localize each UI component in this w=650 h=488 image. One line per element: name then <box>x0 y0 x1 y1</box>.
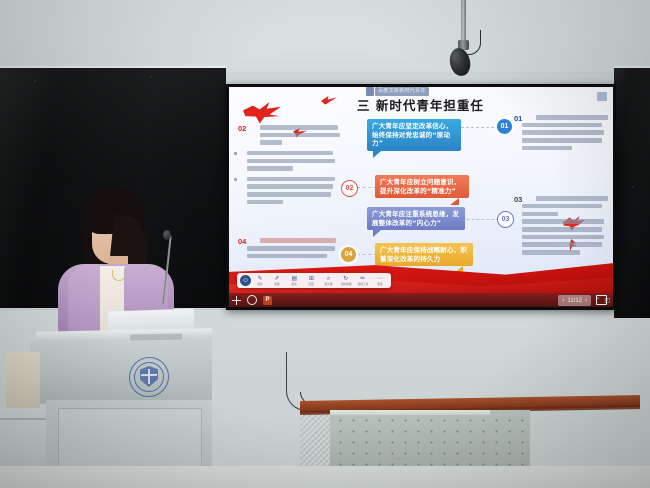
left-bullet-2 <box>239 177 345 205</box>
toolbar-annotate-button[interactable]: ✎ 批注 <box>252 276 268 286</box>
marker-02[interactable]: 02 <box>341 180 358 197</box>
left-block-04: 04 <box>239 238 345 258</box>
account-avatar[interactable]: ☺ <box>240 275 251 286</box>
toolbar-viewswitch-button[interactable]: ↻ 切换视图 <box>338 276 354 286</box>
more-icon: ⋯ <box>377 276 383 282</box>
ink-icon: ✏ <box>360 276 365 282</box>
left-number-02: 02 <box>238 124 246 133</box>
crest-shield <box>140 366 158 387</box>
right-bullet-column: 01 03 <box>514 115 606 261</box>
pencil-icon: ✎ <box>258 276 263 282</box>
floor <box>0 466 650 488</box>
display-screen[interactable]: 百度文库新时代青年 三 新时代青年担重任 02 <box>229 87 613 307</box>
wall-display[interactable]: 百度文库新时代青年 三 新时代青年担重任 02 <box>226 84 616 310</box>
callout-01[interactable]: 广大青年应坚定改革信心，始终保持对党忠诚的“原动力” <box>367 119 461 151</box>
prev-slide-button[interactable]: ‹ <box>562 298 564 304</box>
desk-perforation <box>330 410 530 468</box>
cabinet-seam <box>0 418 46 420</box>
presenter-view-icon[interactable] <box>596 295 607 305</box>
right-block-01: 01 <box>514 115 606 150</box>
toolbar-pages-button[interactable]: ⊞ 页面 <box>303 276 319 286</box>
grid-icon: ⊞ <box>309 276 314 282</box>
callout-02[interactable]: 广大青年应树立问题意识，提升深化改革的“精准力” <box>375 175 469 198</box>
start-icon[interactable] <box>232 296 241 305</box>
marker-01[interactable]: 01 <box>497 119 512 134</box>
blackboard-right <box>614 68 650 318</box>
connector-line <box>357 187 377 188</box>
callout-03[interactable]: 广大青年应注重系统思维，发展整体改革的“内心力” <box>367 207 465 230</box>
right-number-01: 01 <box>514 114 522 123</box>
podium-body <box>30 338 212 404</box>
dove-small-icon <box>321 95 337 105</box>
pen-icon: ✐ <box>275 276 280 282</box>
toolbar-ink-button[interactable]: ✏ 墨迹工具 <box>355 276 371 286</box>
connector-line <box>461 127 499 128</box>
marker-03[interactable]: 03 <box>497 211 514 228</box>
notes-icon: ▤ <box>291 276 297 282</box>
slide-page-indicator: 11/12 <box>567 298 582 304</box>
magnifier-icon: ⌕ <box>327 276 330 282</box>
windows-taskbar[interactable]: P ⌃ ◰ <box>229 293 613 307</box>
refresh-icon: ↻ <box>343 276 348 282</box>
left-bullet-column: 02 <box>239 125 345 264</box>
connector-line <box>357 254 377 255</box>
ppt-floating-toolbar[interactable]: ☺ ✎ 批注 ✐ 画笔 ▤ 备注 ⊞ 页面 <box>237 273 391 288</box>
board-gloss-right <box>614 68 650 318</box>
podium-nameplate <box>130 333 182 340</box>
dove-icon <box>243 101 281 127</box>
side-box <box>6 352 40 408</box>
desk-front-panel <box>330 410 530 468</box>
slideshow-nav[interactable]: ‹ 11/12 › <box>558 295 591 306</box>
toolbar-notes-button[interactable]: ▤ 备注 <box>286 276 302 286</box>
next-slide-button[interactable]: › <box>585 298 587 304</box>
left-block-02: 02 <box>239 125 345 145</box>
toolbar-zoom-button[interactable]: ⌕ 放大镜 <box>321 276 337 286</box>
slide-title: 三 新时代青年担重任 <box>357 95 484 114</box>
powerpoint-icon[interactable]: P <box>263 296 272 305</box>
callout-04[interactable]: 广大青年应保持战略耐心，积蓄深化改革的持久力 <box>375 243 473 266</box>
marker-04[interactable]: 04 <box>341 247 356 262</box>
wall-upper <box>0 0 650 72</box>
powerpoint-slide[interactable]: 百度文库新时代青年 三 新时代青年担重任 02 <box>229 87 613 293</box>
toolbar-more-button[interactable]: ⋯ 更多 <box>372 276 388 286</box>
classroom-photo: 百度文库新时代青年 三 新时代青年担重任 02 <box>0 0 650 488</box>
side-cabinet <box>0 408 46 468</box>
crest-bar <box>141 374 157 376</box>
desk-highlight-strip <box>330 410 490 415</box>
right-number-03: 03 <box>514 195 522 204</box>
left-number-04: 04 <box>238 237 246 246</box>
right-block-03: 03 <box>514 196 606 254</box>
podium-microphone-icon <box>163 230 171 240</box>
left-bullet-1 <box>239 151 345 171</box>
toolbar-pen-button[interactable]: ✐ 画笔 <box>269 276 285 286</box>
slide-corner-badge <box>597 92 607 101</box>
search-icon[interactable] <box>247 295 257 305</box>
